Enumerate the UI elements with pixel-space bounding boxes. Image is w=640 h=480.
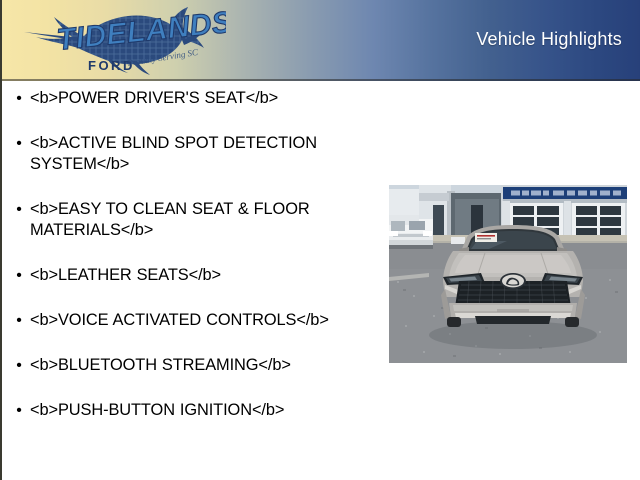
list-item-label: <b>PUSH-BUTTON IGNITION</b> <box>30 401 284 419</box>
bullet-icon: • <box>14 199 24 220</box>
vehicle-highlights-list: • <b>POWER DRIVER'S SEAT</b> • <b>ACTIVE… <box>2 88 408 445</box>
page-header: TIDELANDS FORD Proudly Serving SC Vehicl… <box>2 0 640 81</box>
list-item-label: <b>LEATHER SEATS</b> <box>30 266 221 284</box>
list-item-label: <b>BLUETOOTH STREAMING</b> <box>30 356 291 374</box>
vehicle-front-photo[interactable] <box>389 185 627 363</box>
list-item: • <b>ACTIVE BLIND SPOT DETECTION SYSTEM<… <box>30 133 408 175</box>
bullet-icon: • <box>14 400 24 421</box>
list-item-label: <b>EASY TO CLEAN SEAT & FLOOR MATERIALS<… <box>30 200 310 239</box>
page-title: Vehicle Highlights <box>476 29 622 50</box>
slide-page: TIDELANDS FORD Proudly Serving SC Vehicl… <box>0 0 640 480</box>
bullet-icon: • <box>14 265 24 286</box>
bullet-icon: • <box>14 133 24 154</box>
bullet-icon: • <box>14 310 24 331</box>
list-item-label: <b>VOICE ACTIVATED CONTROLS</b> <box>30 311 329 329</box>
list-item: • <b>POWER DRIVER'S SEAT</b> <box>30 88 408 109</box>
bullet-icon: • <box>14 355 24 376</box>
bullet-icon: • <box>14 88 24 109</box>
background-truck <box>389 215 433 249</box>
list-item: • <b>BLUETOOTH STREAMING</b> <box>30 355 408 376</box>
list-item-label: <b>POWER DRIVER'S SEAT</b> <box>30 89 278 107</box>
list-item: • <b>EASY TO CLEAN SEAT & FLOOR MATERIAL… <box>30 199 408 241</box>
content-area: • <b>POWER DRIVER'S SEAT</b> • <b>ACTIVE… <box>2 81 640 480</box>
list-item: • <b>LEATHER SEATS</b> <box>30 265 408 286</box>
list-item: • <b>VOICE ACTIVATED CONTROLS</b> <box>30 310 408 331</box>
hyundai-badge <box>500 273 526 289</box>
list-item: • <b>PUSH-BUTTON IGNITION</b> <box>30 400 408 421</box>
tidelands-ford-logo[interactable]: TIDELANDS FORD Proudly Serving SC <box>16 4 226 78</box>
list-item-label: <b>ACTIVE BLIND SPOT DETECTION SYSTEM</b… <box>30 134 317 173</box>
